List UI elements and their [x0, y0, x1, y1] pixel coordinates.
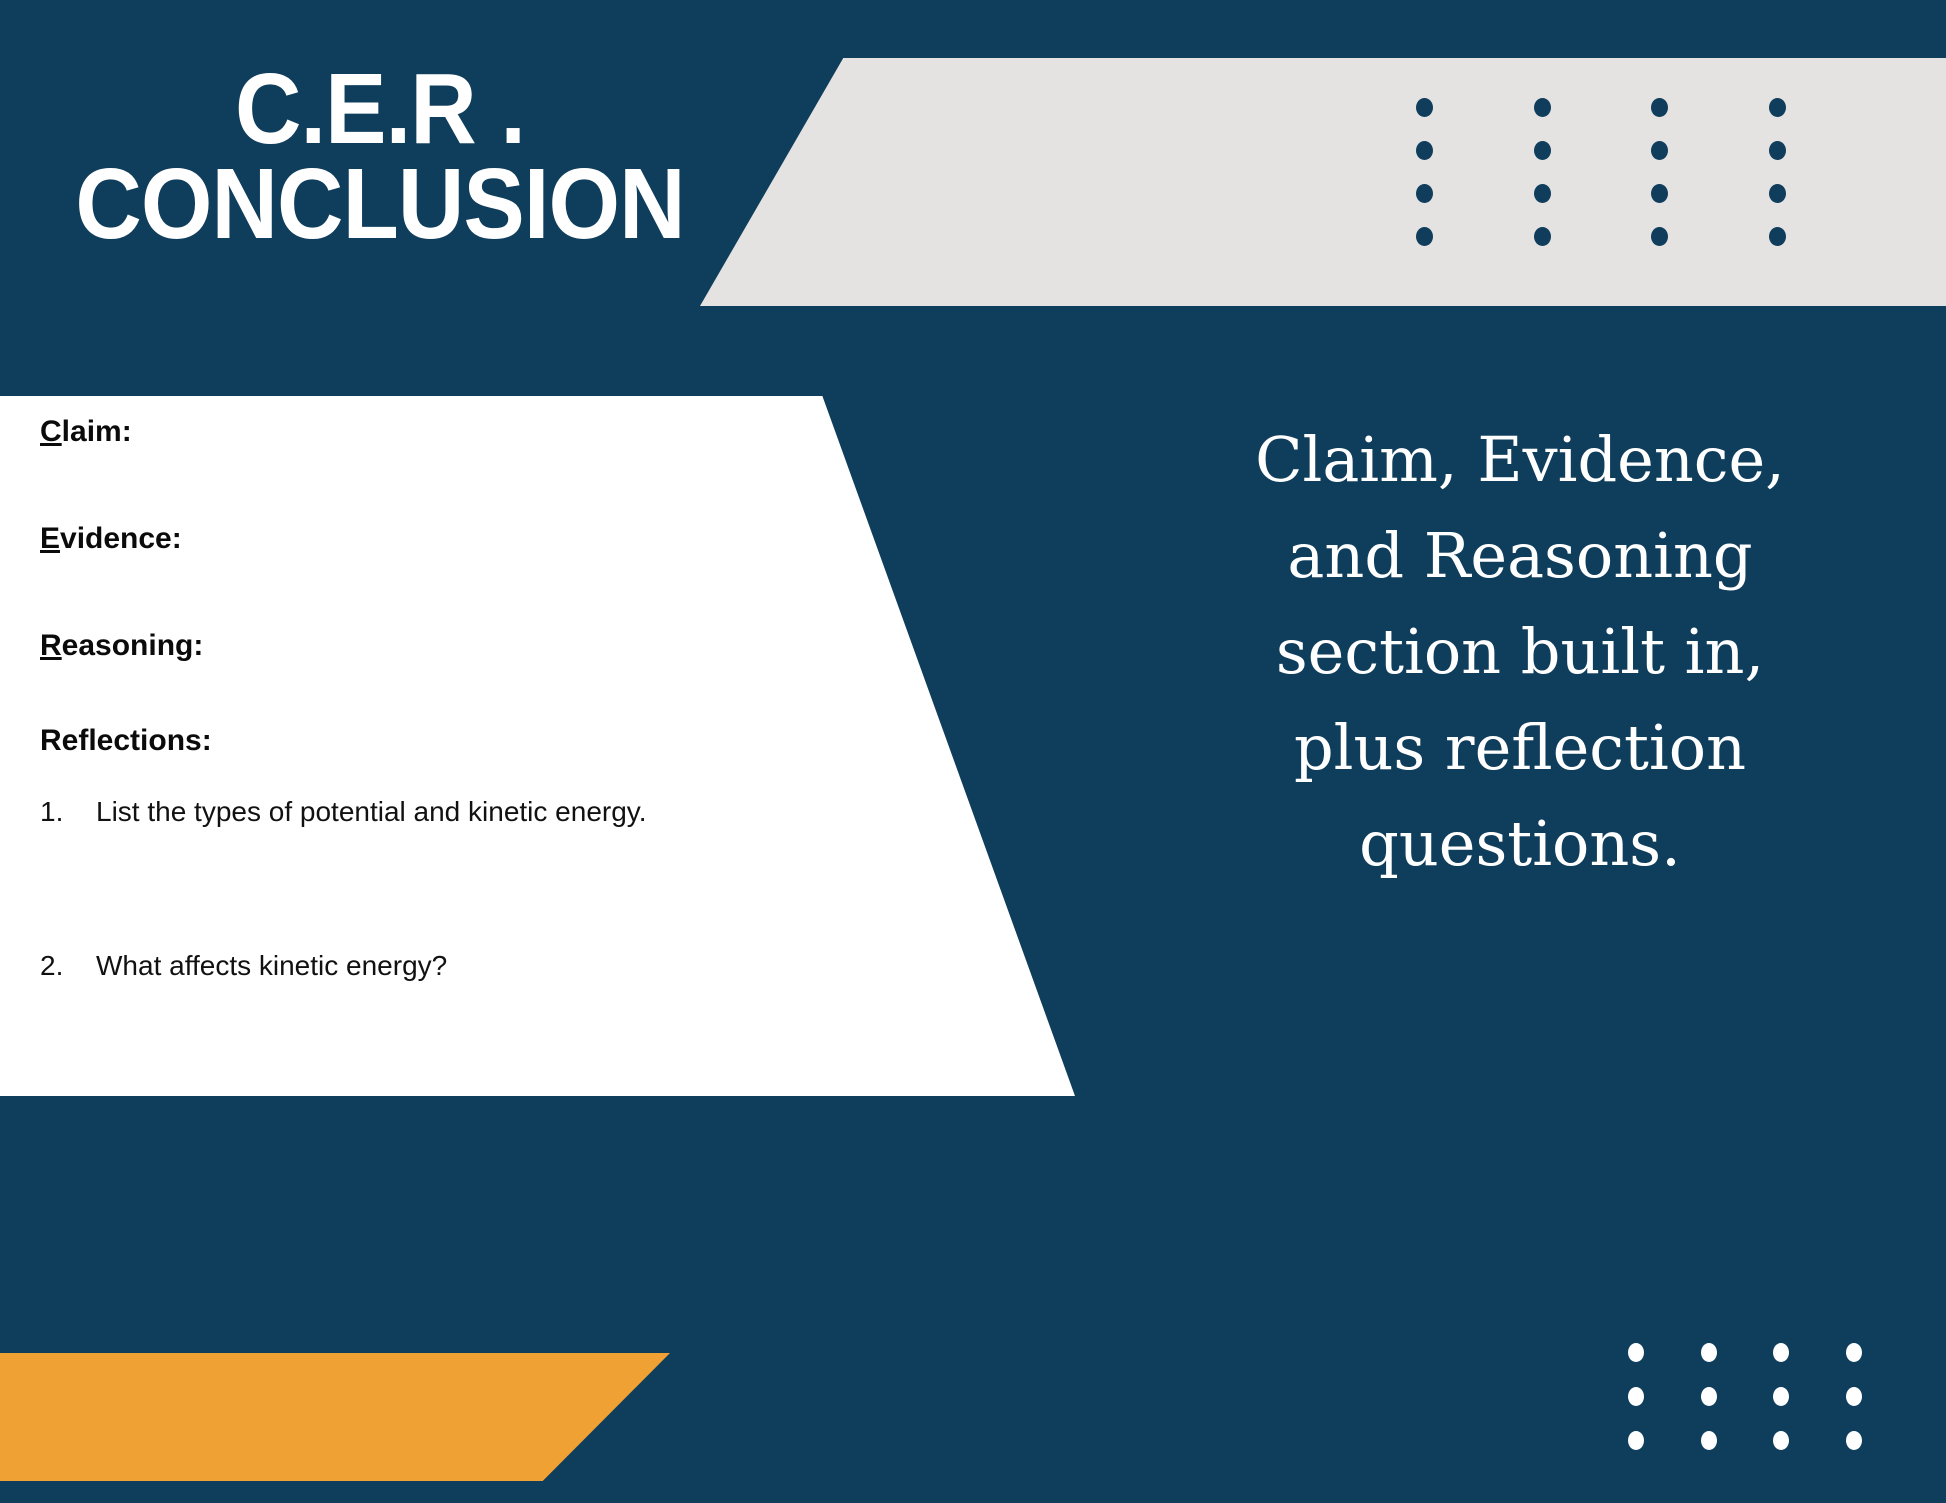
orange-accent-band — [0, 1353, 670, 1481]
description-line-5: questions. — [1150, 796, 1890, 892]
dot — [1846, 1343, 1862, 1362]
dot — [1701, 1387, 1717, 1406]
field-reasoning-initial: R — [40, 629, 62, 662]
list-item: 1. List the types of potential and kinet… — [40, 796, 900, 828]
field-reasoning: Reasoning: — [40, 628, 900, 664]
dot — [1628, 1343, 1644, 1362]
dot — [1628, 1431, 1644, 1450]
dot — [1701, 1431, 1717, 1450]
field-evidence: Evidence: — [40, 521, 900, 557]
slide-canvas: C.E.R . CONCLUSION Claim: Evidence: Reas… — [0, 0, 1946, 1503]
dot — [1534, 98, 1551, 117]
reflection-question-list: 1. List the types of potential and kinet… — [40, 796, 900, 982]
dot — [1628, 1387, 1644, 1406]
question-text: List the types of potential and kinetic … — [96, 796, 900, 828]
field-claim: Claim: — [40, 414, 900, 450]
dot — [1651, 227, 1668, 246]
slide-title: C.E.R . CONCLUSION — [30, 62, 729, 252]
dot — [1846, 1431, 1862, 1450]
field-evidence-initial: E — [40, 522, 60, 555]
description-line-3: section built in, — [1150, 604, 1890, 700]
dot — [1416, 98, 1433, 117]
spacer — [40, 557, 900, 628]
spacer — [40, 664, 900, 724]
description-line-4: plus reflection — [1150, 700, 1890, 796]
field-reasoning-rest: easoning — [62, 629, 194, 662]
dot — [1651, 141, 1668, 160]
dot — [1773, 1387, 1789, 1406]
description-line-2: and Reasoning — [1150, 508, 1890, 604]
dot — [1416, 141, 1433, 160]
dot — [1701, 1343, 1717, 1362]
dot — [1773, 1431, 1789, 1450]
dot — [1769, 184, 1786, 203]
dot — [1651, 98, 1668, 117]
dot — [1534, 184, 1551, 203]
description-text: Claim, Evidence, and Reasoning section b… — [1150, 412, 1890, 892]
question-text: What affects kinetic energy? — [96, 950, 900, 982]
spacer — [40, 450, 900, 521]
dot — [1416, 184, 1433, 203]
bottom-dot-grid — [1628, 1343, 1918, 1475]
dot — [1773, 1343, 1789, 1362]
top-dot-grid — [1416, 98, 1886, 270]
worksheet-content: Claim: Evidence: Reasoning: Reflections:… — [40, 414, 900, 982]
question-number: 1. — [40, 796, 96, 828]
field-reasoning-colon: : — [193, 629, 203, 662]
question-number: 2. — [40, 950, 96, 982]
description-line-1: Claim, Evidence, — [1150, 412, 1890, 508]
dot — [1534, 141, 1551, 160]
dot — [1769, 227, 1786, 246]
worksheet-panel: Claim: Evidence: Reasoning: Reflections:… — [0, 396, 1075, 1096]
field-claim-rest: laim: — [62, 415, 132, 448]
field-evidence-rest: vidence: — [60, 522, 182, 555]
dot — [1769, 141, 1786, 160]
reflections-heading: Reflections: — [40, 724, 900, 758]
dot — [1416, 227, 1433, 246]
title-line-1: C.E.R . — [30, 62, 729, 157]
dot — [1769, 98, 1786, 117]
list-item: 2. What affects kinetic energy? — [40, 950, 900, 982]
title-line-2: CONCLUSION — [30, 157, 729, 252]
field-claim-initial: C — [40, 415, 62, 448]
dot — [1651, 184, 1668, 203]
dot — [1534, 227, 1551, 246]
dot — [1846, 1387, 1862, 1406]
